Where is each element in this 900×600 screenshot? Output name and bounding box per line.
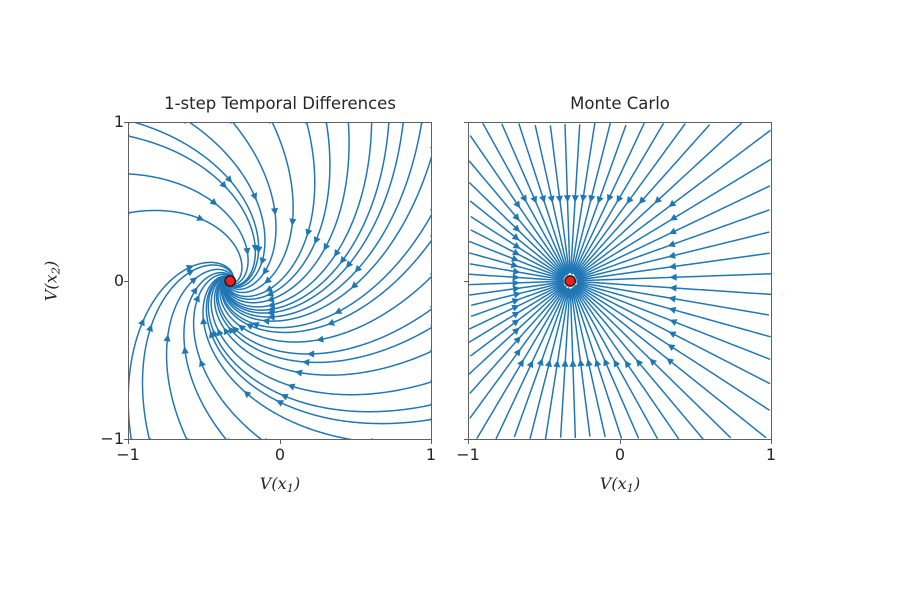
xaxis-label-left: V(x1) [128, 474, 432, 495]
fixed-point-marker [225, 276, 235, 286]
xaxis-label-right: V(x1) [468, 474, 772, 495]
streamline-arrow [262, 318, 270, 325]
panel-title-left: 1-step Temporal Differences [128, 94, 432, 114]
xaxis-label-left-sub: 1 [287, 481, 294, 495]
streamline [206, 277, 431, 424]
panel-1-step-temporal-differences: 1-step Temporal Differences −1 0 1 1 0 −… [128, 122, 432, 440]
streamline-arrow [513, 291, 521, 298]
ytick-label-left-0: −1 [100, 430, 124, 448]
streamline-arrow [668, 200, 676, 207]
streamline-arrow [512, 274, 519, 281]
streamline-arrow [238, 325, 246, 332]
streamline-arrow [340, 256, 347, 264]
streamline-arrow [569, 360, 576, 367]
panel-monte-carlo: Monte Carlo −1 0 1 V(x1) [468, 122, 772, 440]
streamline [228, 123, 315, 296]
xaxis-label-left-var: x [278, 474, 287, 493]
streamline-arrow [625, 360, 632, 368]
xtick-mark-right-0 [468, 440, 469, 444]
streamline-arrow [307, 350, 314, 357]
streamline-arrow [667, 344, 675, 351]
streamline-arrow [146, 324, 153, 332]
streamline-arrow [545, 359, 552, 367]
ytick-mark-right-0 [464, 439, 468, 440]
streamline-arrow [668, 295, 676, 302]
streamline-arrow [553, 360, 560, 368]
xtick-label-right-1: 0 [615, 446, 625, 464]
streamline-arrow [564, 195, 571, 202]
streamplot-right [469, 123, 771, 439]
ytick-label-left-1: 0 [114, 272, 124, 290]
panel-title-right: Monte Carlo [468, 94, 772, 114]
streamline-arrow [588, 195, 595, 203]
streamline-arrow [669, 263, 677, 270]
ytick-mark-right-1 [464, 281, 468, 282]
xtick-mark-right-2 [771, 440, 772, 444]
streamline-arrow [548, 195, 555, 203]
streamline-arrow [669, 285, 676, 292]
xtick-mark-left-1 [280, 440, 281, 444]
ytick-label-left-2: 1 [114, 113, 124, 131]
streamline-arrow [302, 359, 309, 366]
streamline-arrow [561, 360, 568, 367]
streamline-arrow [572, 195, 579, 202]
streamline [220, 274, 431, 342]
xaxis-label-right-sub: 1 [627, 481, 634, 495]
xtick-label-left-2: 1 [426, 446, 436, 464]
streamline-arrow [513, 200, 520, 208]
streamline-arrow [316, 336, 324, 343]
ytick-mark-left-2 [124, 122, 128, 123]
streamline-arrow [539, 195, 546, 203]
xaxis-label-left-suffix: ) [294, 474, 300, 493]
plot-area-right [468, 122, 772, 440]
plot-area-left [128, 122, 432, 440]
yaxis-label: V(x2) [41, 261, 62, 301]
xtick-label-left-1: 0 [275, 446, 285, 464]
streamline-arrow [512, 319, 520, 326]
fixed-point-marker [565, 276, 575, 286]
xaxis-label-right-prefix: V( [600, 474, 618, 493]
yaxis-label-var: x [41, 274, 60, 283]
streamline-arrow [200, 317, 207, 324]
xaxis-label-left-prefix: V( [260, 474, 278, 493]
streamline-arrow [511, 261, 519, 268]
yaxis-label-suffix: ) [41, 261, 60, 267]
streamline-arrow [512, 279, 519, 286]
streamline-arrow [334, 249, 341, 257]
streamline-arrow [556, 195, 563, 203]
ytick-mark-left-0 [124, 439, 128, 440]
streamline-arrow [164, 334, 171, 342]
streamline-arrow [594, 359, 601, 367]
streamplot-left [129, 123, 431, 439]
xaxis-label-right-var: x [618, 474, 627, 493]
xtick-label-left-0: −1 [116, 446, 140, 464]
yaxis-label-sub: 2 [49, 267, 63, 274]
streamline-arrow [577, 359, 584, 367]
streamline [185, 123, 265, 287]
streamline-arrow [668, 252, 676, 259]
streamline-arrow [586, 359, 593, 367]
streamline-arrow [580, 194, 587, 202]
streamline [218, 279, 431, 354]
ytick-mark-left-1 [124, 281, 128, 282]
streamline-arrow [210, 198, 218, 205]
streamline-arrow [669, 274, 676, 281]
xaxis-label-right-suffix: ) [634, 474, 640, 493]
figure-canvas: 1-step Temporal Differences −1 0 1 1 0 −… [0, 0, 900, 600]
streamline-arrow [295, 370, 303, 377]
xtick-mark-left-2 [431, 440, 432, 444]
xtick-label-right-2: 1 [766, 446, 776, 464]
xtick-mark-left-0 [128, 440, 129, 444]
streamline-arrow [626, 196, 633, 204]
streamline [229, 123, 276, 289]
streamline [227, 123, 330, 299]
ytick-mark-right-2 [464, 122, 468, 123]
streamline-arrow [513, 268, 521, 275]
streamline-arrow [287, 384, 295, 391]
streamline-arrow [513, 242, 521, 249]
streamline-arrow [514, 349, 521, 357]
streamline-arrow [669, 307, 677, 314]
yaxis-label-prefix: V( [41, 283, 60, 301]
streamline-arrow [243, 248, 250, 256]
xtick-label-right-0: −1 [456, 446, 480, 464]
xtick-mark-right-1 [620, 440, 621, 444]
streamline [129, 210, 242, 282]
